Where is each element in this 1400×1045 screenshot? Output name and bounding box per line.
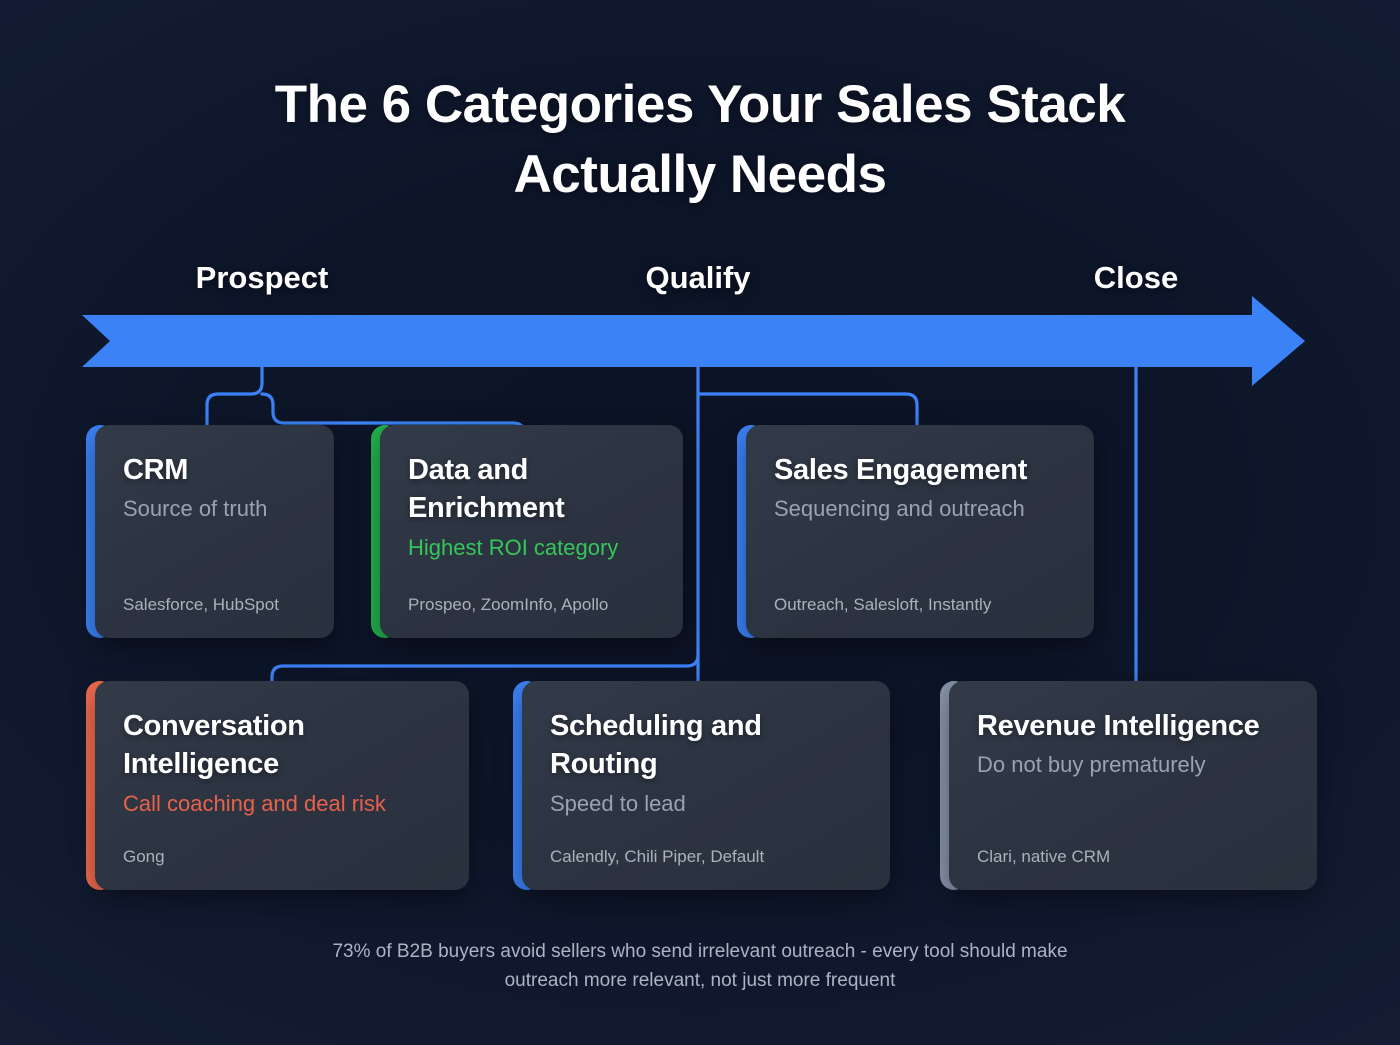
card-title: Conversation Intelligence bbox=[123, 707, 441, 784]
card-conversation-intelligence[interactable]: Conversation Intelligence Call coaching … bbox=[86, 681, 469, 890]
connector-qualify-to-sales-engagement bbox=[698, 394, 917, 428]
card-body: Revenue Intelligence Do not buy prematur… bbox=[949, 681, 1317, 890]
card-subtitle: Sequencing and outreach bbox=[774, 495, 1066, 524]
card-tools: Calendly, Chili Piper, Default bbox=[550, 846, 862, 868]
connector-prospect-to-crm bbox=[207, 383, 262, 428]
card-crm[interactable]: CRM Source of truth Salesforce, HubSpot bbox=[86, 425, 334, 638]
card-title: Scheduling and Routing bbox=[550, 707, 862, 784]
card-tools: Outreach, Salesloft, Instantly bbox=[774, 594, 1066, 616]
card-body: Data and Enrichment Highest ROI category… bbox=[380, 425, 683, 638]
card-subtitle: Call coaching and deal risk bbox=[123, 790, 441, 819]
card-tools: Salesforce, HubSpot bbox=[123, 594, 306, 616]
card-subtitle: Do not buy prematurely bbox=[977, 751, 1289, 780]
card-tools: Clari, native CRM bbox=[977, 846, 1289, 868]
card-tools: Gong bbox=[123, 846, 441, 868]
card-subtitle: Speed to lead bbox=[550, 790, 862, 819]
card-title: CRM bbox=[123, 451, 306, 489]
footer-note: 73% of B2B buyers avoid sellers who send… bbox=[0, 938, 1400, 996]
card-revenue-intelligence[interactable]: Revenue Intelligence Do not buy prematur… bbox=[940, 681, 1317, 890]
card-body: Scheduling and Routing Speed to lead Cal… bbox=[522, 681, 890, 890]
card-tools: Prospeo, ZoomInfo, Apollo bbox=[408, 594, 655, 616]
card-title: Revenue Intelligence bbox=[977, 707, 1289, 745]
card-body: Sales Engagement Sequencing and outreach… bbox=[746, 425, 1094, 638]
card-subtitle: Highest ROI category bbox=[408, 534, 655, 563]
card-sales-engagement[interactable]: Sales Engagement Sequencing and outreach… bbox=[737, 425, 1094, 638]
infographic-canvas: The 6 Categories Your Sales Stack Actual… bbox=[0, 0, 1400, 1045]
card-title: Data and Enrichment bbox=[408, 451, 655, 528]
card-data-and-enrichment[interactable]: Data and Enrichment Highest ROI category… bbox=[371, 425, 683, 638]
card-body: Conversation Intelligence Call coaching … bbox=[95, 681, 469, 890]
card-subtitle: Source of truth bbox=[123, 495, 306, 524]
card-title: Sales Engagement bbox=[774, 451, 1066, 489]
card-scheduling-and-routing[interactable]: Scheduling and Routing Speed to lead Cal… bbox=[513, 681, 890, 890]
card-body: CRM Source of truth Salesforce, HubSpot bbox=[95, 425, 334, 638]
